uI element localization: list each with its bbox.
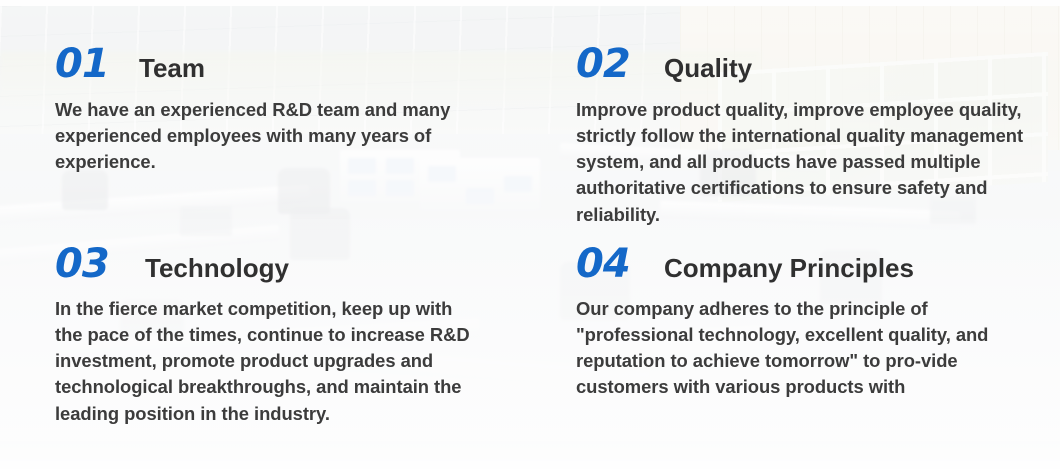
feature-card-team: 01 Team We have an experienced R&D team … (0, 0, 530, 232)
feature-header: 02 Quality (576, 44, 1030, 84)
feature-title: Quality (664, 55, 752, 81)
feature-description: Improve product quality, improve employe… (576, 97, 1030, 228)
feature-title: Company Principles (664, 255, 914, 281)
feature-description: Our company adheres to the principle of … (576, 296, 1026, 401)
feature-number: 04 (576, 244, 654, 284)
feature-header: 03 Technology (55, 244, 484, 284)
feature-header: 01 Team (55, 44, 484, 84)
feature-header: 04 Company Principles (576, 244, 1040, 284)
company-advantages-banner: 01 Team We have an experienced R&D team … (0, 0, 1060, 469)
feature-title: Technology (145, 255, 289, 281)
feature-number: 01 (55, 44, 129, 84)
feature-title: Team (139, 55, 205, 81)
feature-number: 03 (55, 244, 135, 284)
feature-grid: 01 Team We have an experienced R&D team … (0, 0, 1060, 469)
feature-card-company-principles: 04 Company Principles Our company adhere… (530, 232, 1060, 469)
feature-number: 02 (576, 44, 654, 84)
feature-description: We have an experienced R&D team and many… (55, 97, 484, 175)
feature-card-quality: 02 Quality Improve product quality, impr… (530, 0, 1060, 232)
feature-description: In the fierce market competition, keep u… (55, 296, 484, 427)
feature-card-technology: 03 Technology In the fierce market compe… (0, 232, 530, 469)
